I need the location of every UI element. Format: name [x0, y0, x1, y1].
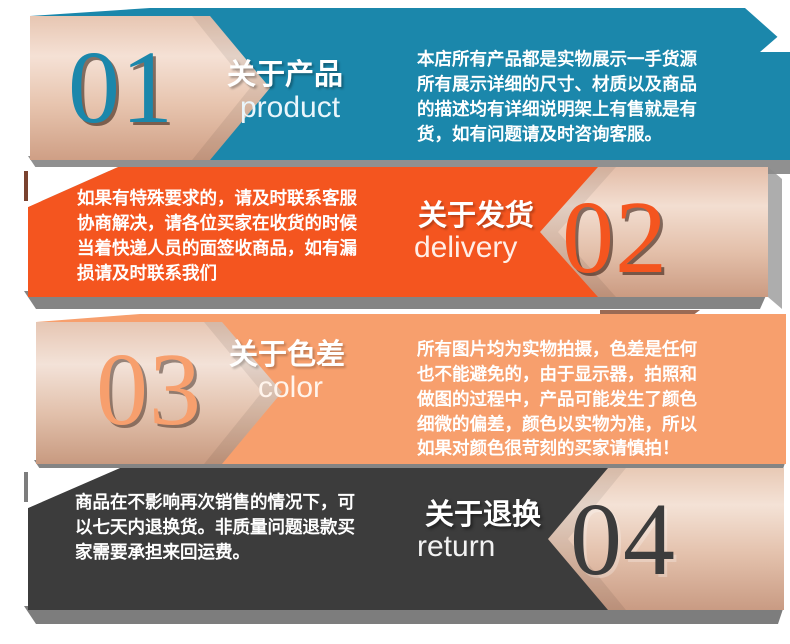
section-body-03: 所有图片均为实物拍摄，色差是任何 也不能避免的，由于显示器，拍照和 做图的过程中…: [417, 338, 737, 462]
section-number-04: 04: [570, 488, 676, 592]
infographic-canvas: 01 关于产品 product 本店所有产品都是实物展示一手货源 所有展示详细的…: [0, 0, 790, 644]
section-title-en-02: delivery: [414, 233, 517, 263]
section-title-en-01: product: [240, 93, 340, 123]
section-number-03: 03: [96, 338, 202, 442]
section-number-02: 02: [562, 186, 668, 290]
section-row-04: 04 关于退换 return 商品在不影响再次销售的情况下，可 以七天内退换货。…: [0, 466, 790, 626]
section-title-en-04: return: [417, 532, 495, 562]
section-row-01: 01 关于产品 product 本店所有产品都是实物展示一手货源 所有展示详细的…: [0, 8, 790, 173]
section-title-cn-03: 关于色差: [229, 340, 345, 369]
section-row-02: 02 关于发货 delivery 如果有特殊要求的，请及时联系客服 协商解决，请…: [0, 163, 790, 313]
section-title-cn-02: 关于发货: [418, 201, 534, 230]
section-title-en-03: color: [258, 373, 323, 403]
section-body-04: 商品在不影响再次销售的情况下，可 以七天内退换货。非质量问题退款买 家需要承担来…: [75, 491, 395, 566]
section-row-03: 03 关于色差 color 所有图片均为实物拍摄，色差是任何 也不能避免的，由于…: [0, 310, 790, 475]
section-title-cn-04: 关于退换: [425, 500, 541, 529]
section-body-02: 如果有特殊要求的，请及时联系客服 协商解决，请各位买家在收货的时候 当着快递人员…: [77, 187, 397, 286]
section-number-01: 01: [68, 36, 174, 140]
section-body-01: 本店所有产品都是实物展示一手货源 所有展示详细的尺寸、材质以及商品 的描述均有详…: [417, 48, 727, 147]
section-title-cn-01: 关于产品: [227, 60, 343, 89]
